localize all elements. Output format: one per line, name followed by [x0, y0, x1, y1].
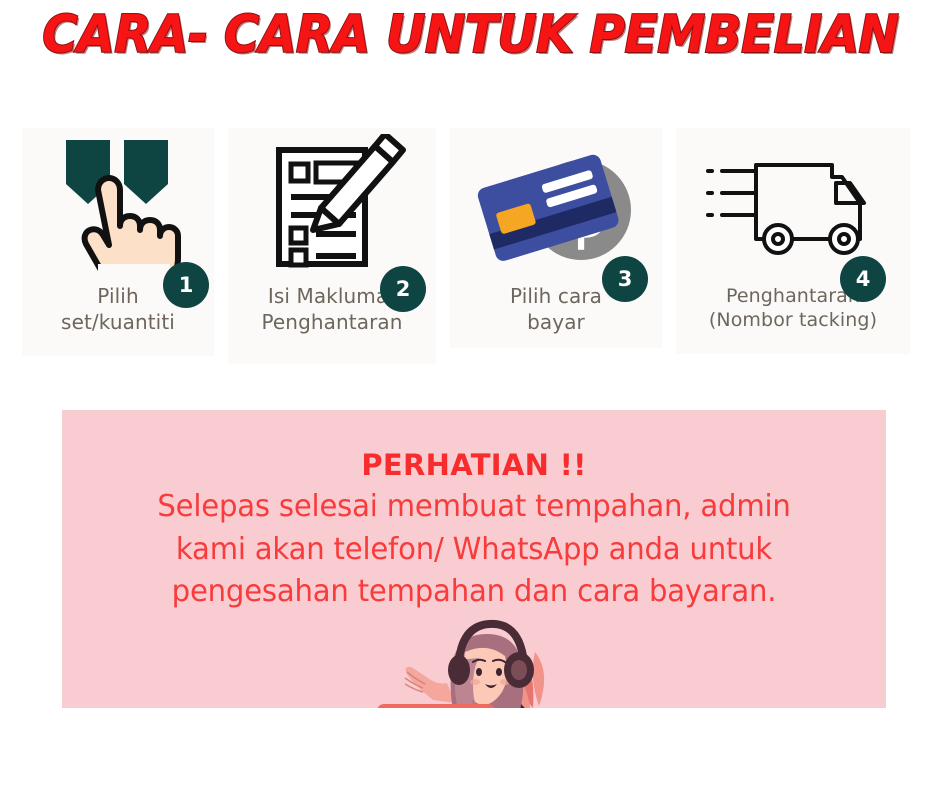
- step-1-badge: 1: [163, 262, 209, 308]
- step-4-label-line2: (Nombor tacking): [678, 308, 908, 332]
- delivery-truck-icon: [698, 149, 888, 269]
- step-card-1[interactable]: Pilih set/kuantiti 1: [22, 128, 214, 356]
- steps-row: Pilih set/kuantiti 1: [22, 128, 918, 368]
- notice-panel: PERHATIAN !! Selepas selesai membuat tem…: [62, 410, 886, 708]
- form-pencil-icon: [257, 134, 407, 284]
- woman-headset-laptop-illustration: [359, 616, 589, 708]
- page-title-wrapper: CARA- CARA UNTUK PEMBELIAN: [0, 8, 940, 63]
- notice-line-3: pengesahan tempahan dan cara bayaran.: [74, 571, 873, 614]
- step-1-label-line2: set/kuantiti: [24, 310, 212, 336]
- page-title: CARA- CARA UNTUK PEMBELIAN: [42, 8, 898, 63]
- step-card-4[interactable]: Penghantaran (Nombor tacking) 4: [676, 128, 910, 354]
- notice-line-1: Selepas selesai membuat tempahan, admin: [74, 486, 873, 529]
- purchase-steps-infographic: { "title": "CARA- CARA UNTUK PEMBELIAN",…: [0, 0, 940, 788]
- notice-line-2: kami akan telefon/ WhatsApp anda untuk: [74, 529, 873, 572]
- notice-content: PERHATIAN !! Selepas selesai membuat tem…: [62, 410, 886, 614]
- step-card-3[interactable]: $ Pilih cara bayar 3: [450, 128, 662, 348]
- notice-heading: PERHATIAN !!: [62, 448, 886, 482]
- step-2-icon-area: [228, 134, 436, 284]
- step-2-badge: 2: [380, 266, 426, 312]
- step-2-label-line2: Penghantaran: [230, 310, 434, 336]
- step-card-2[interactable]: Isi Maklumat Penghantaran 2: [228, 128, 436, 364]
- credit-card-dollar-icon: $: [469, 144, 644, 274]
- step-3-label-line2: bayar: [452, 310, 660, 336]
- step-4-badge: 4: [840, 256, 886, 302]
- step-3-badge: 3: [602, 256, 648, 302]
- hand-pointing-icon: [48, 134, 188, 284]
